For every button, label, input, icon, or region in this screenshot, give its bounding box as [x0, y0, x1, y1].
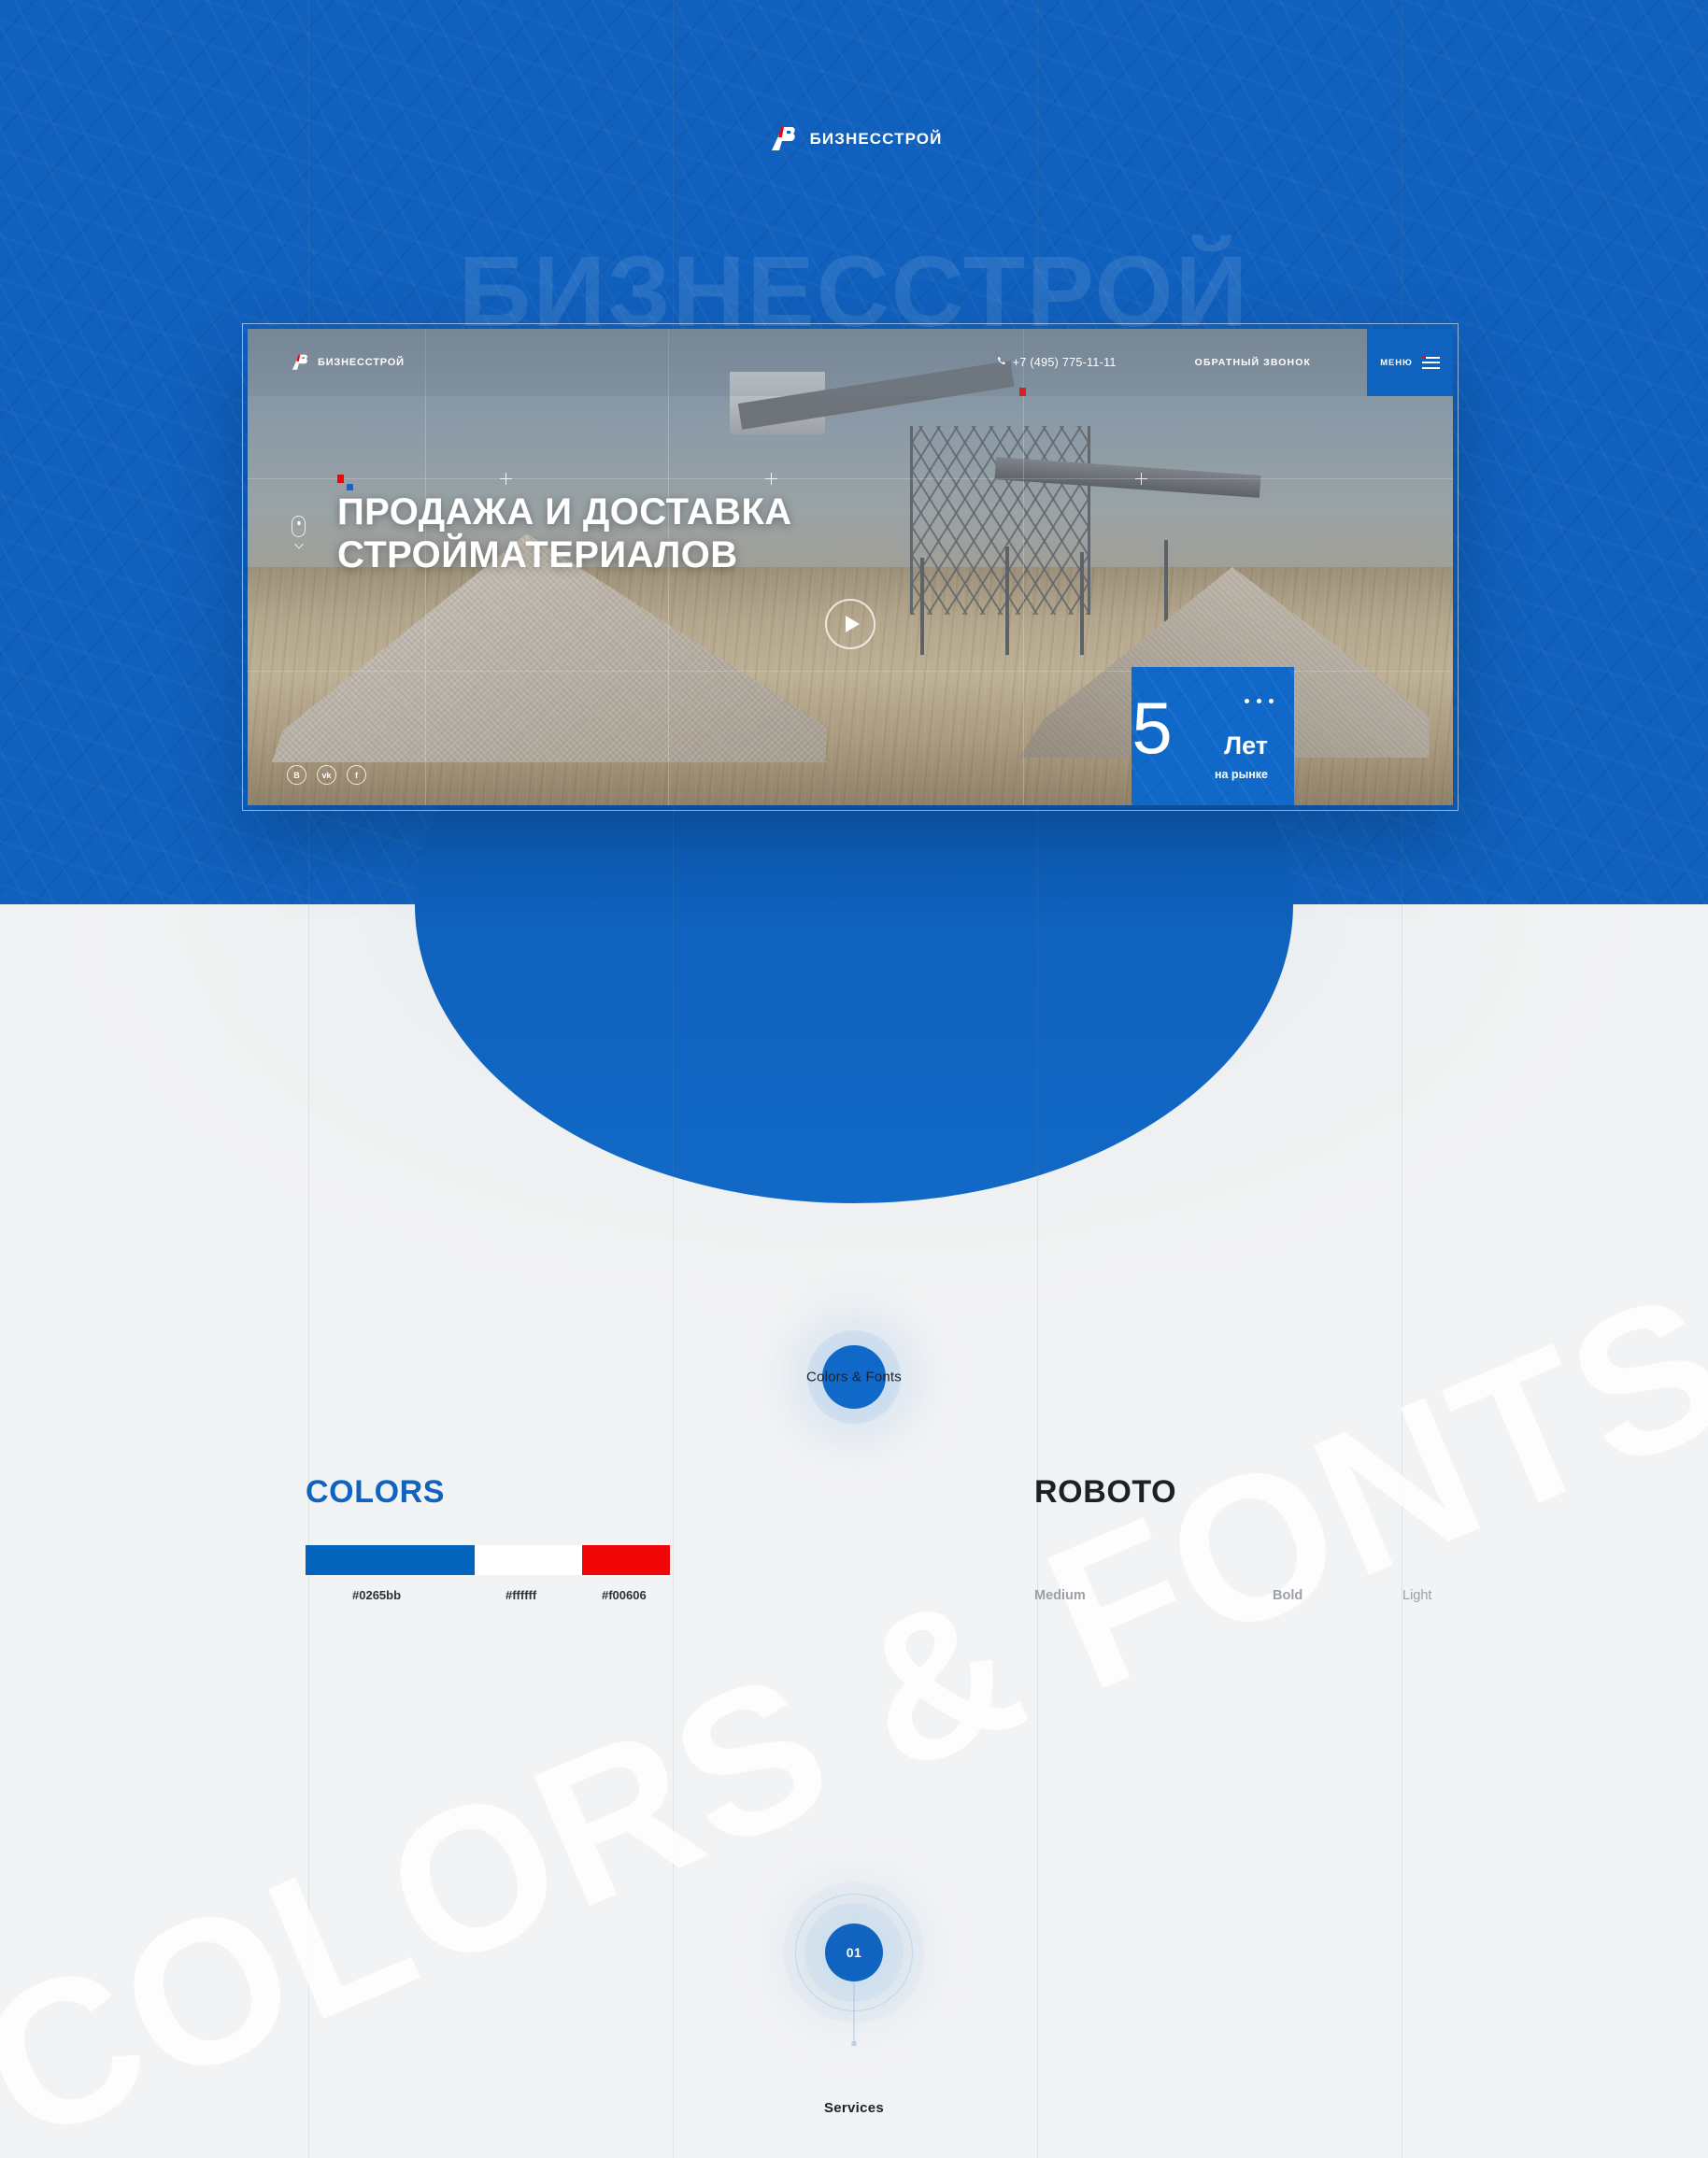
colors-heading: COLORS	[306, 1474, 445, 1511]
services-label: Services	[824, 2100, 884, 2116]
colors-fonts-badge-label: Colors & Fonts	[806, 1370, 902, 1385]
swatch-white	[475, 1545, 582, 1575]
leader-dot	[852, 2041, 857, 2046]
color-swatches	[306, 1545, 670, 1575]
swatch-red	[582, 1545, 670, 1575]
swatch-label-blue: #0265bb	[352, 1588, 401, 1602]
leader-line	[854, 1981, 855, 2045]
swatch-blue	[306, 1545, 475, 1575]
font-weights: Medium Bold Light	[1034, 1588, 1427, 1607]
fonts-heading: ROBOTO	[1034, 1474, 1176, 1511]
section-number: 01	[847, 1945, 862, 1960]
swatch-label-red: #f00606	[602, 1588, 647, 1602]
section-number-badge: 01	[825, 1924, 883, 1981]
font-weight-medium: Medium	[1034, 1588, 1086, 1603]
swatch-label-white: #ffffff	[505, 1588, 536, 1602]
font-weight-light: Light	[1402, 1588, 1431, 1603]
font-weight-bold: Bold	[1273, 1588, 1302, 1603]
colors-fonts-block: COLORS ROBOTO #0265bb #ffffff #f00606 Me…	[0, 0, 1708, 2158]
color-swatch-labels: #0265bb #ffffff #f00606	[306, 1588, 670, 1607]
page-root: БИЗНЕССТРОЙ БИЗНЕССТРОЙ	[0, 0, 1708, 2158]
